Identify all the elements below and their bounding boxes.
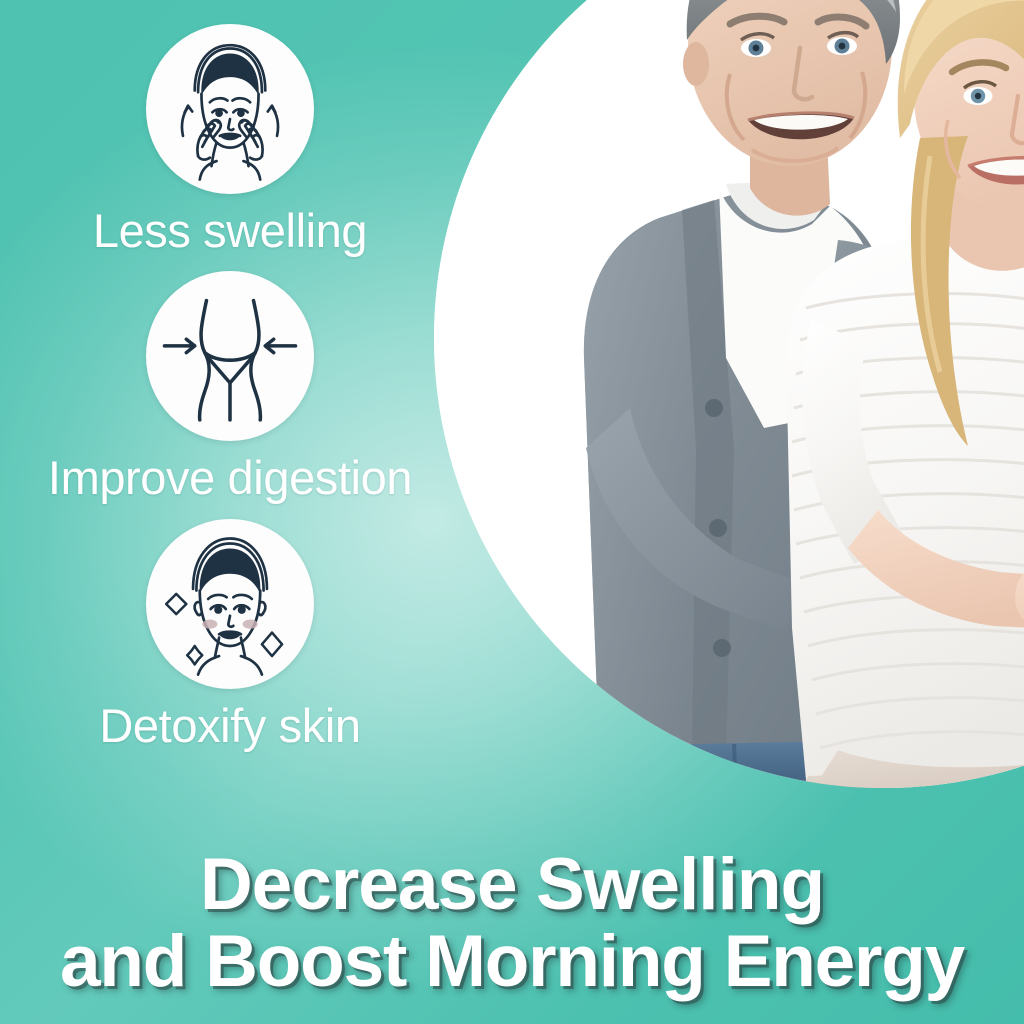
benefit-item-less-swelling: Less swelling — [0, 24, 460, 255]
benefit-label: Improve digestion — [48, 453, 412, 502]
benefit-label: Detoxify skin — [99, 701, 360, 750]
benefits-list: Less swelling — [0, 0, 460, 800]
headline-line-2: and Boost Morning Energy — [0, 923, 1024, 1002]
couple-photo — [434, 0, 1024, 788]
slim-waist-icon — [146, 271, 314, 441]
couple-photo-circle — [434, 0, 1024, 788]
product-benefit-poster: Less swelling — [0, 0, 1024, 1024]
headline-line-1: Decrease Swelling — [0, 846, 1024, 923]
face-massage-icon — [146, 24, 314, 194]
glowing-face-icon — [146, 519, 314, 689]
benefit-item-improve-digestion: Improve digestion — [0, 271, 460, 502]
benefit-label: Less swelling — [93, 206, 367, 255]
headline: Decrease Swelling and Boost Morning Ener… — [0, 846, 1024, 1002]
benefit-item-detoxify-skin: Detoxify skin — [0, 519, 460, 750]
